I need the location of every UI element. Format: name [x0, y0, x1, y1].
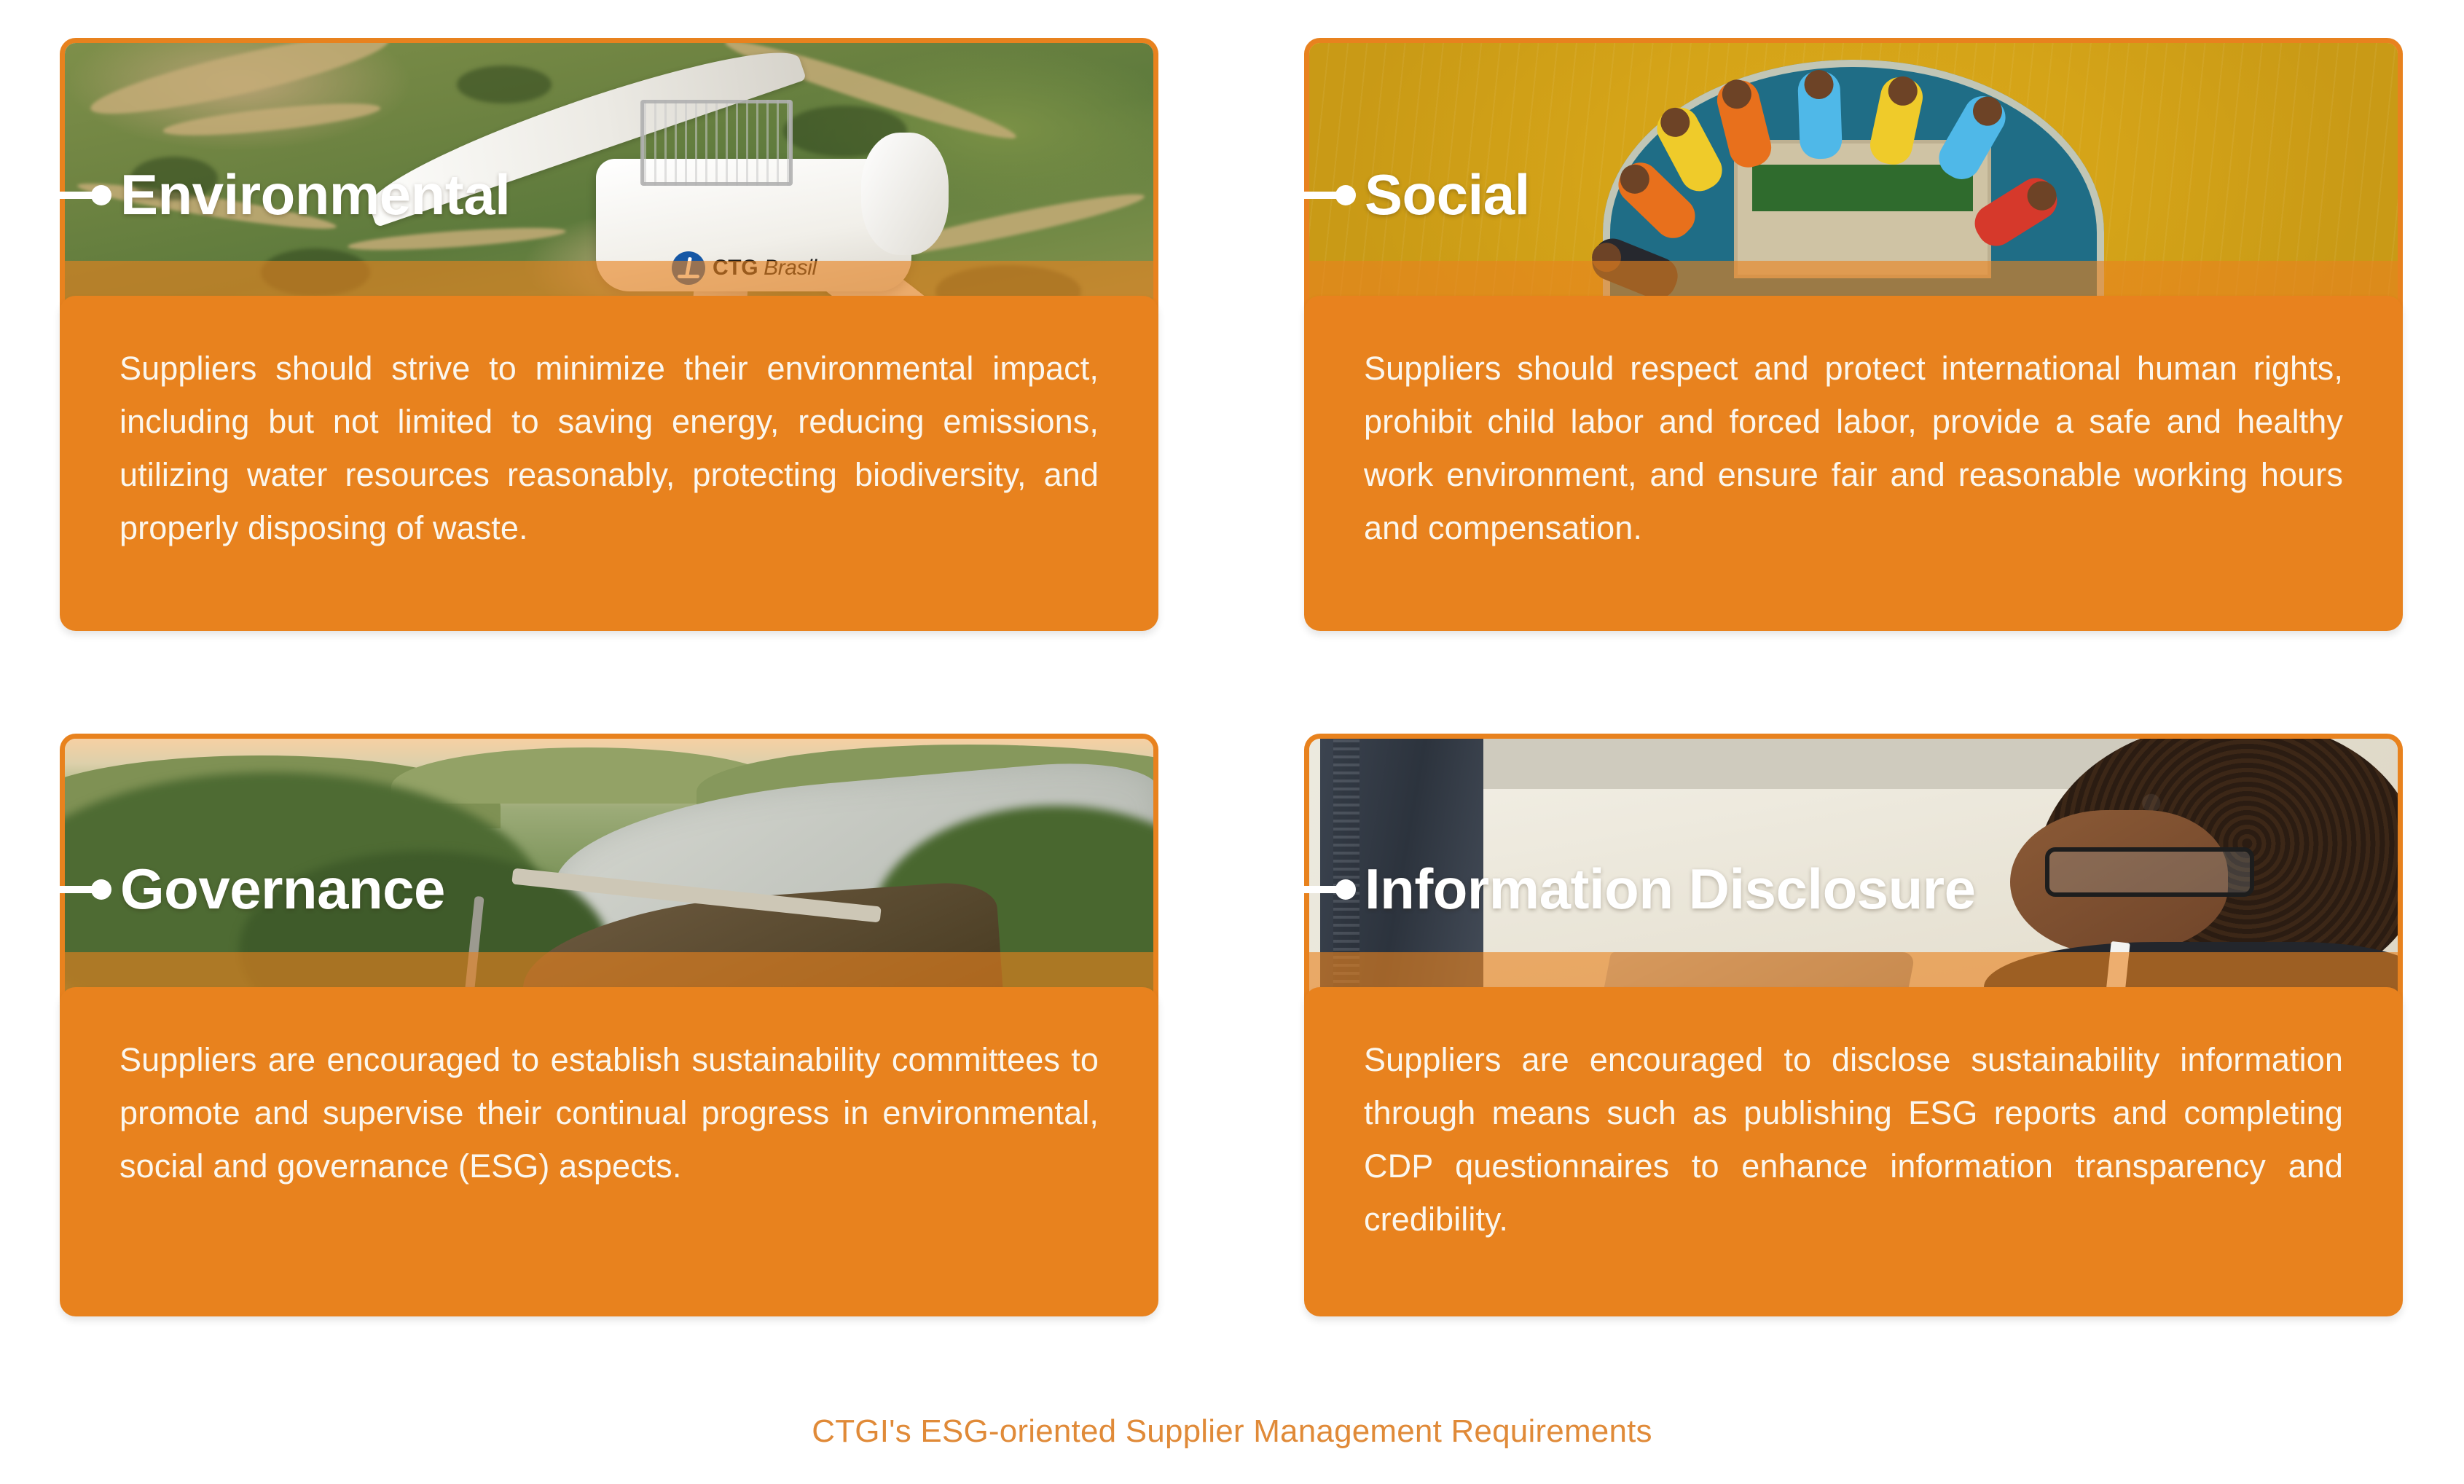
ctg-logo-italic: Brasil: [764, 256, 817, 280]
card-body-social: Suppliers should respect and protect int…: [1304, 296, 2403, 631]
esg-requirements-board: CTG Brasil Environmental Suppliers shoul…: [0, 0, 2464, 1484]
card-text-environmental: Suppliers should strive to minimize thei…: [119, 342, 1099, 555]
card-social[interactable]: Social Suppliers should respect and prot…: [1304, 38, 2403, 663]
card-information-disclosure[interactable]: Information Disclosure Suppliers are enc…: [1304, 734, 2403, 1359]
ctg-logo-bold: CTG: [713, 256, 758, 280]
children-sports-photo: [1309, 43, 2398, 328]
dam-reservoir-photo: [65, 739, 1153, 1019]
card-text-information-disclosure: Suppliers are encouraged to disclose sus…: [1364, 1034, 2343, 1247]
card-text-governance: Suppliers are encouraged to establish su…: [119, 1034, 1099, 1193]
card-governance[interactable]: Governance Suppliers are encouraged to e…: [60, 734, 1158, 1359]
wind-turbine-photo: CTG Brasil: [65, 43, 1153, 328]
card-body-governance: Suppliers are encouraged to establish su…: [60, 987, 1158, 1316]
card-media-social: [1304, 38, 2403, 328]
card-media-information-disclosure: [1304, 734, 2403, 1019]
card-media-environmental: CTG Brasil: [60, 38, 1158, 328]
card-text-social: Suppliers should respect and protect int…: [1364, 342, 2343, 555]
ctg-brasil-logo: CTG Brasil: [672, 251, 817, 285]
card-environmental[interactable]: CTG Brasil Environmental Suppliers shoul…: [60, 38, 1158, 663]
office-worker-photo: [1309, 739, 2398, 1019]
wind-turbine-icon: CTG Brasil: [533, 43, 1153, 328]
card-body-environmental: Suppliers should strive to minimize thei…: [60, 296, 1158, 631]
card-grid: CTG Brasil Environmental Suppliers shoul…: [60, 38, 2419, 1359]
card-body-information-disclosure: Suppliers are encouraged to disclose sus…: [1304, 987, 2403, 1316]
figure-caption: CTGI's ESG-oriented Supplier Management …: [0, 1413, 2464, 1450]
card-media-governance: [60, 734, 1158, 1019]
ctg-emblem-icon: [672, 251, 705, 285]
